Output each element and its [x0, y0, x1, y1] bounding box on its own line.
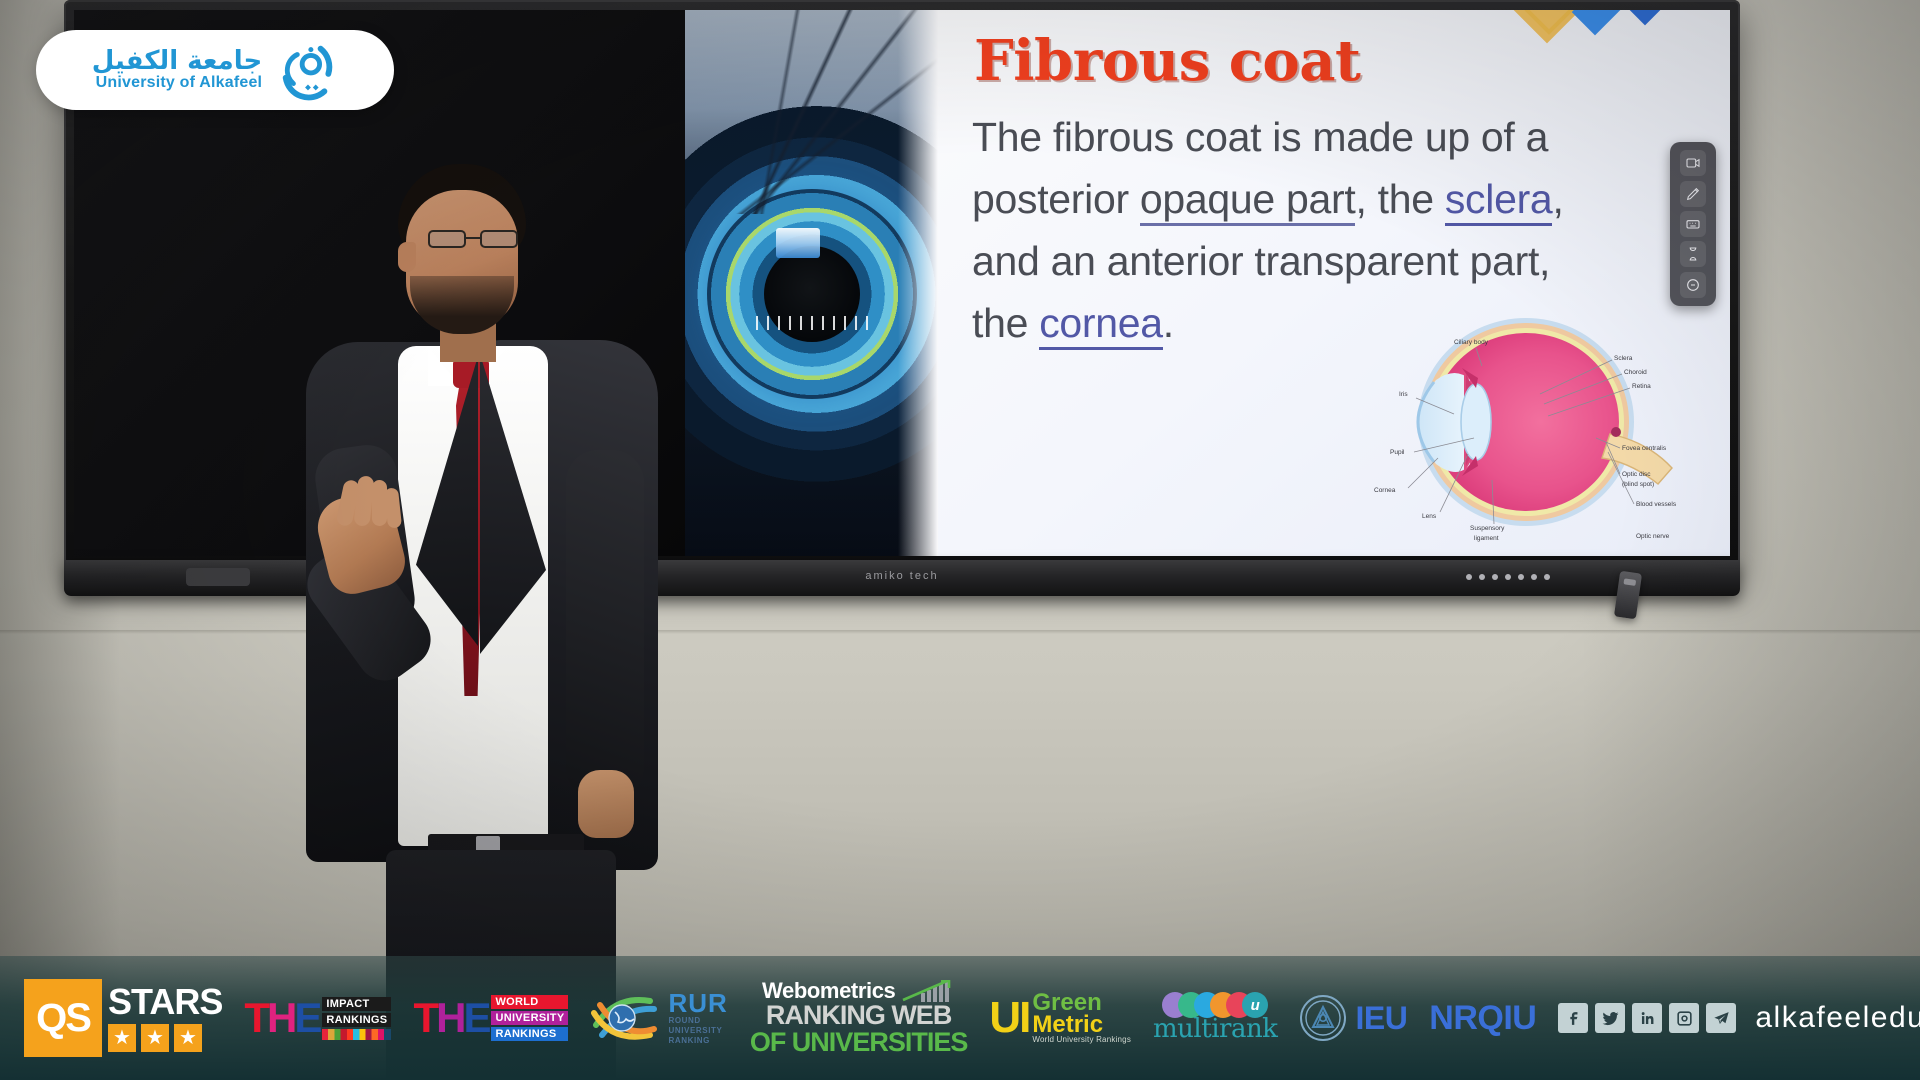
term-sclera: sclera	[1445, 176, 1553, 226]
linkedin-icon[interactable]	[1632, 1003, 1662, 1033]
diagram-label-sclera: Sclera	[1614, 355, 1633, 362]
telegram-icon[interactable]	[1706, 1003, 1736, 1033]
the-world-stack: WORLD UNIVERSITY RANKINGS	[491, 995, 568, 1041]
board-brand-label: amiko tech	[865, 570, 938, 582]
eyeglasses	[428, 230, 524, 248]
slide-line-2: posterior opaque part, the sclera,	[972, 176, 1564, 226]
board-led	[1544, 574, 1550, 580]
logo-name-english: University of Alkafeel	[96, 75, 263, 92]
star-icon: ★	[141, 1024, 169, 1052]
qs-stars-logo[interactable]: QS STARS ★ ★ ★	[24, 979, 222, 1057]
eye-diagram-svg: Ciliary body Iris Pupil Cornea Lens Susp…	[1304, 302, 1724, 552]
the-impact-line-1: IMPACT	[322, 997, 391, 1011]
slide-canvas: Fibrous coat The fibrous coat is made up…	[685, 10, 1730, 556]
board-led	[1466, 574, 1472, 580]
the-impact-rankings-logo[interactable]: THE IMPACT RANKINGS	[244, 997, 391, 1040]
university-logo-badge[interactable]: جامعة الكفيل University of Alkafeel	[36, 30, 394, 110]
rur-line-1: ROUND	[668, 1016, 727, 1026]
ui-greenmetric-metric: Metric	[1032, 1014, 1131, 1036]
board-led	[1505, 574, 1511, 580]
beard	[410, 276, 514, 334]
diagram-label-cornea: Cornea	[1374, 487, 1396, 494]
board-led	[1531, 574, 1537, 580]
social-links[interactable]: alkafeeleduiq	[1558, 1001, 1920, 1035]
rur-text-block: RUR ROUND UNIVERSITY RANKING	[668, 990, 727, 1046]
arm-right	[566, 450, 644, 800]
slide-line-3: and an anterior transparent part,	[972, 238, 1550, 284]
iris-photograph	[685, 10, 938, 556]
the-letter-h: H	[267, 994, 294, 1041]
the-letter-t: T	[413, 994, 436, 1041]
slide-title: Fibrous coat	[974, 28, 1360, 94]
multirank-wordmark: multirank	[1153, 1014, 1277, 1044]
webometrics-wordmark: Webometrics	[762, 980, 955, 1002]
twitter-icon[interactable]	[1595, 1003, 1625, 1033]
logo-name-arabic: جامعة الكفيل	[92, 48, 262, 75]
diagram-label-choroid: Choroid	[1624, 369, 1647, 376]
eyeglass-lens-left	[428, 230, 466, 248]
eyeglass-bridge	[466, 237, 482, 239]
logo-text-block: جامعة الكفيل University of Alkafeel	[92, 48, 262, 92]
diagram-label-retina: Retina	[1632, 383, 1651, 390]
rur-eye-globe-icon	[590, 991, 662, 1045]
diagram-label-iris: Iris	[1399, 391, 1408, 398]
growth-chart-icon	[901, 980, 955, 1002]
the-letter-e: E	[463, 994, 488, 1041]
accreditation-footer-bar: QS STARS ★ ★ ★ THE IMPACT RANKINGS	[0, 956, 1920, 1080]
diagram-label-suspensory-2: ligament	[1474, 535, 1499, 542]
facebook-icon[interactable]	[1558, 1003, 1588, 1033]
diagram-label-optic-nerve: Optic nerve	[1636, 533, 1670, 540]
qs-mark: QS	[24, 979, 102, 1057]
slide-text-area: Fibrous coat The fibrous coat is made up…	[938, 10, 1730, 556]
iris-tick-marks	[756, 316, 876, 330]
term-opaque-part: opaque part	[1140, 176, 1356, 226]
instagram-icon[interactable]	[1669, 1003, 1699, 1033]
webometrics-line-2: RANKING WEB	[766, 1002, 952, 1029]
pen-icon[interactable]	[1680, 181, 1706, 207]
whiteboard-toolbar[interactable]	[1670, 142, 1716, 306]
photo-edge-fade	[898, 10, 938, 556]
more-icon[interactable]	[1680, 272, 1706, 298]
diagram-label-blood-vessels: Blood vessels	[1636, 501, 1677, 508]
board-led	[1479, 574, 1485, 580]
u-multirank-logo[interactable]: u multirank	[1153, 992, 1277, 1044]
rur-abbr: RUR	[668, 990, 727, 1016]
keyboard-icon[interactable]	[1680, 211, 1706, 237]
the-world-line-3: RANKINGS	[491, 1027, 568, 1041]
hourglass-icon[interactable]	[1680, 241, 1706, 267]
ui-greenmetric-logo[interactable]: UI Green Metric World University Ranking…	[989, 992, 1131, 1044]
hand-right	[578, 770, 634, 838]
eyeglass-lens-right	[480, 230, 518, 248]
presenter	[248, 150, 678, 1010]
ear	[398, 242, 416, 272]
decorative-diamonds	[1502, 10, 1702, 88]
presentation-slide[interactable]: Fibrous coat The fibrous coat is made up…	[685, 10, 1730, 556]
qs-stars-word: STARS	[108, 984, 222, 1020]
term-cornea: cornea	[1039, 300, 1163, 350]
the-wordmark: THE	[244, 1000, 319, 1036]
the-impact-line-2: RANKINGS	[322, 1013, 391, 1027]
board-ir-sensor	[186, 568, 250, 586]
diagram-label-optic-disc-2: (blind spot)	[1622, 481, 1654, 488]
diagram-label-optic-disc-1: Optic disc	[1622, 471, 1651, 478]
catchlight-reflection	[776, 228, 820, 258]
the-letter-h: H	[436, 994, 463, 1041]
eye-cross-section-diagram: Ciliary body Iris Pupil Cornea Lens Susp…	[1304, 302, 1724, 552]
qs-mark-text: QS	[36, 996, 90, 1041]
diagram-label-fovea: Fovea centralis	[1622, 445, 1667, 452]
diagram-label-pupil: Pupil	[1390, 449, 1405, 456]
the-letter-e: E	[294, 994, 319, 1041]
ieu-wordmark: IEU	[1355, 1000, 1407, 1037]
diagram-label-suspensory-1: Suspensory	[1470, 525, 1505, 532]
ui-greenmetric-ui: UI	[989, 998, 1029, 1038]
social-handle: alkafeeleduiq	[1755, 1001, 1920, 1035]
board-led	[1518, 574, 1524, 580]
star-icon: ★	[108, 1024, 136, 1052]
the-world-line-2: UNIVERSITY	[491, 1011, 568, 1025]
the-world-line-1: WORLD	[491, 995, 568, 1009]
nrqiu-logo[interactable]: NRQIU	[1429, 999, 1536, 1038]
screen-capture-icon[interactable]	[1680, 150, 1706, 176]
qs-right-block: STARS ★ ★ ★	[108, 984, 222, 1052]
alkafeel-monogram-icon	[276, 39, 338, 101]
sdg-color-strip	[322, 1029, 391, 1040]
ui-greenmetric-text: Green Metric World University Rankings	[1032, 992, 1131, 1044]
the-wordmark: THE	[413, 1000, 488, 1036]
nrqiu-wordmark: NRQIU	[1429, 999, 1536, 1038]
webometrics-line-3: OF UNIVERSITIES	[750, 1029, 968, 1056]
the-world-university-rankings-logo[interactable]: THE WORLD UNIVERSITY RANKINGS	[413, 995, 568, 1041]
diagram-label-ciliary-body: Ciliary body	[1454, 339, 1489, 346]
diagram-label-lens: Lens	[1422, 513, 1437, 520]
rur-line-2: UNIVERSITY	[668, 1026, 727, 1036]
qs-star-rating: ★ ★ ★	[108, 1024, 222, 1052]
rur-logo[interactable]: RUR ROUND UNIVERSITY RANKING	[590, 990, 727, 1046]
rur-line-3: RANKING	[668, 1036, 727, 1046]
board-led	[1492, 574, 1498, 580]
ieu-seal-icon	[1299, 994, 1347, 1042]
the-impact-stack: IMPACT RANKINGS	[322, 997, 391, 1040]
star-icon: ★	[174, 1024, 202, 1052]
slide-line-4: the cornea.	[972, 300, 1174, 350]
the-letter-t: T	[244, 994, 267, 1041]
screenshot-root: Fibrous coat The fibrous coat is made up…	[0, 0, 1920, 1080]
board-status-leds	[1466, 574, 1550, 580]
webometrics-logo[interactable]: Webometrics RANKING WEB OF UNIVERSITIES	[750, 980, 968, 1056]
ui-greenmetric-sub: World University Rankings	[1032, 1036, 1131, 1043]
ieu-logo[interactable]: IEU	[1299, 994, 1407, 1042]
slide-line-1: The fibrous coat is made up of a	[972, 114, 1548, 160]
